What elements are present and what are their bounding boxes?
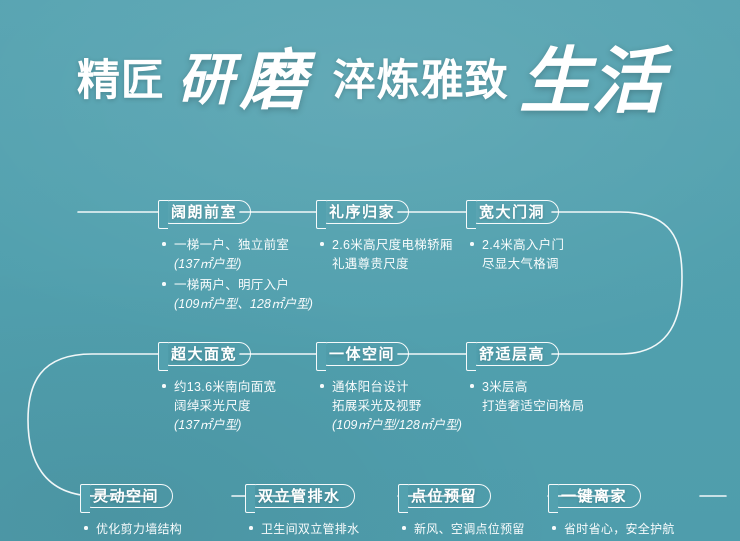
feature-card-shuanglíguanpaishui[interactable]: 双立管排水 卫生间双立管排水 有效防止异味 bbox=[245, 484, 359, 541]
list-item: 3米层高 打造奢适空间格局 bbox=[468, 378, 584, 416]
bullet-line-1: 新风、空调点位预留 bbox=[414, 520, 525, 539]
bullet-line-2: 尽显大气格调 bbox=[482, 255, 564, 274]
headline-part-4: 淬炼雅致 bbox=[333, 60, 509, 103]
bullet-line-2: 阔绰采光尺度 bbox=[174, 397, 276, 416]
bullet-line-1: 卫生间双立管排水 bbox=[261, 520, 359, 539]
card-title-chip[interactable]: 宽大门洞 bbox=[466, 200, 559, 224]
list-item: 一梯一户、独立前室 (137㎡户型) bbox=[160, 236, 313, 274]
card-title: 一体空间 bbox=[329, 347, 395, 362]
card-title: 舒适层高 bbox=[479, 347, 545, 362]
headline-part-5: 生活 bbox=[519, 45, 663, 117]
bullet-line-2: 礼遇尊贵尺度 bbox=[332, 255, 453, 274]
bullet-line-2: 打造奢适空间格局 bbox=[482, 397, 584, 416]
card-bullet-list: 3米层高 打造奢适空间格局 bbox=[466, 378, 584, 416]
bullet-line-2: 拓展采光及视野 bbox=[332, 397, 462, 416]
card-title: 宽大门洞 bbox=[479, 205, 545, 220]
headline-part-2: 研 bbox=[177, 52, 233, 108]
bullet-line-1: 省时省心，安全护航 bbox=[564, 520, 675, 539]
card-title-chip[interactable]: 灵动空间 bbox=[80, 484, 173, 508]
card-bullet-list: 2.6米高尺度电梯轿厢 礼遇尊贵尺度 bbox=[316, 236, 453, 274]
connector-right-uturn bbox=[552, 212, 682, 354]
bullet-line-3: (137㎡户型) bbox=[174, 416, 276, 435]
bullet-line-1: 2.6米高尺度电梯轿厢 bbox=[332, 236, 453, 255]
feature-card-shushicenggao[interactable]: 舒适层高 3米层高 打造奢适空间格局 bbox=[466, 342, 584, 417]
page-headline: 精匠 研 磨 淬炼雅致 生活 bbox=[0, 34, 740, 106]
bullet-line-2: (109㎡户型、128㎡户型) bbox=[174, 295, 313, 314]
card-title-chip[interactable]: 点位预留 bbox=[398, 484, 491, 508]
list-item: 优化剪力墙结构 实现空间多变 bbox=[82, 520, 182, 541]
card-title-chip[interactable]: 礼序归家 bbox=[316, 200, 409, 224]
card-bullet-list: 通体阳台设计 拓展采光及视野 (109㎡户型/128㎡户型) bbox=[316, 378, 462, 435]
card-title-chip[interactable]: 一体空间 bbox=[316, 342, 409, 366]
card-bullet-list: 优化剪力墙结构 实现空间多变 bbox=[80, 520, 182, 541]
card-bullet-list: 约13.6米南向面宽 阔绰采光尺度 (137㎡户型) bbox=[158, 378, 276, 435]
list-item: 约13.6米南向面宽 阔绰采光尺度 (137㎡户型) bbox=[160, 378, 276, 435]
list-item: 新风、空调点位预留 便于后期装修 bbox=[400, 520, 525, 541]
headline-part-3: 磨 bbox=[240, 47, 306, 113]
card-bullet-list: 新风、空调点位预留 便于后期装修 bbox=[398, 520, 525, 541]
feature-card-dianweiyuliu[interactable]: 点位预留 新风、空调点位预留 便于后期装修 bbox=[398, 484, 525, 541]
list-item: 通体阳台设计 拓展采光及视野 (109㎡户型/128㎡户型) bbox=[318, 378, 462, 435]
card-bullet-list: 省时省心，安全护航 bbox=[548, 520, 675, 539]
card-title-chip[interactable]: 超大面宽 bbox=[158, 342, 251, 366]
list-item: 卫生间双立管排水 有效防止异味 bbox=[247, 520, 359, 541]
headline-part-1: 精匠 bbox=[77, 60, 165, 103]
feature-card-kuandamendong[interactable]: 宽大门洞 2.4米高入户门 尽显大气格调 bbox=[466, 200, 564, 275]
feature-card-lingdongkongjian[interactable]: 灵动空间 优化剪力墙结构 实现空间多变 bbox=[80, 484, 182, 541]
list-item: 2.4米高入户门 尽显大气格调 bbox=[468, 236, 564, 274]
card-bullet-list: 一梯一户、独立前室 (137㎡户型) 一梯两户、明厅入户 (109㎡户型、128… bbox=[158, 236, 313, 314]
list-item: 省时省心，安全护航 bbox=[550, 520, 675, 539]
bullet-line-1: 通体阳台设计 bbox=[332, 378, 462, 397]
bullet-line-2: (137㎡户型) bbox=[174, 255, 313, 274]
card-title: 超大面宽 bbox=[171, 347, 237, 362]
bullet-line-1: 约13.6米南向面宽 bbox=[174, 378, 276, 397]
list-item: 一梯两户、明厅入户 (109㎡户型、128㎡户型) bbox=[160, 276, 313, 314]
card-bullet-list: 2.4米高入户门 尽显大气格调 bbox=[466, 236, 564, 274]
card-title-chip[interactable]: 双立管排水 bbox=[245, 484, 355, 508]
bullet-line-3: (109㎡户型/128㎡户型) bbox=[332, 416, 462, 435]
card-title: 阔朗前室 bbox=[171, 205, 237, 220]
bullet-line-1: 优化剪力墙结构 bbox=[96, 520, 182, 539]
card-title: 一键离家 bbox=[561, 489, 627, 504]
bullet-line-1: 一梯一户、独立前室 bbox=[174, 236, 313, 255]
card-title: 点位预留 bbox=[411, 489, 477, 504]
card-title: 灵动空间 bbox=[93, 489, 159, 504]
connector-left-uturn bbox=[28, 354, 158, 496]
card-title: 礼序归家 bbox=[329, 205, 395, 220]
list-item: 2.6米高尺度电梯轿厢 礼遇尊贵尺度 bbox=[318, 236, 453, 274]
bullet-line-1: 3米层高 bbox=[482, 378, 584, 397]
card-title-chip[interactable]: 阔朗前室 bbox=[158, 200, 251, 224]
feature-card-lixuguijia[interactable]: 礼序归家 2.6米高尺度电梯轿厢 礼遇尊贵尺度 bbox=[316, 200, 453, 275]
card-title-chip[interactable]: 舒适层高 bbox=[466, 342, 559, 366]
feature-card-yitikongjian[interactable]: 一体空间 通体阳台设计 拓展采光及视野 (109㎡户型/128㎡户型) bbox=[316, 342, 462, 436]
card-title: 双立管排水 bbox=[258, 489, 341, 504]
feature-card-yijianlijia[interactable]: 一键离家 省时省心，安全护航 bbox=[548, 484, 675, 540]
bullet-line-1: 一梯两户、明厅入户 bbox=[174, 276, 313, 295]
card-title-chip[interactable]: 一键离家 bbox=[548, 484, 641, 508]
feature-card-chaodamiankuan[interactable]: 超大面宽 约13.6米南向面宽 阔绰采光尺度 (137㎡户型) bbox=[158, 342, 276, 436]
card-bullet-list: 卫生间双立管排水 有效防止异味 bbox=[245, 520, 359, 541]
feature-card-kuolangqianshi[interactable]: 阔朗前室 一梯一户、独立前室 (137㎡户型) 一梯两户、明厅入户 (109㎡户… bbox=[158, 200, 313, 315]
bullet-line-1: 2.4米高入户门 bbox=[482, 236, 564, 255]
